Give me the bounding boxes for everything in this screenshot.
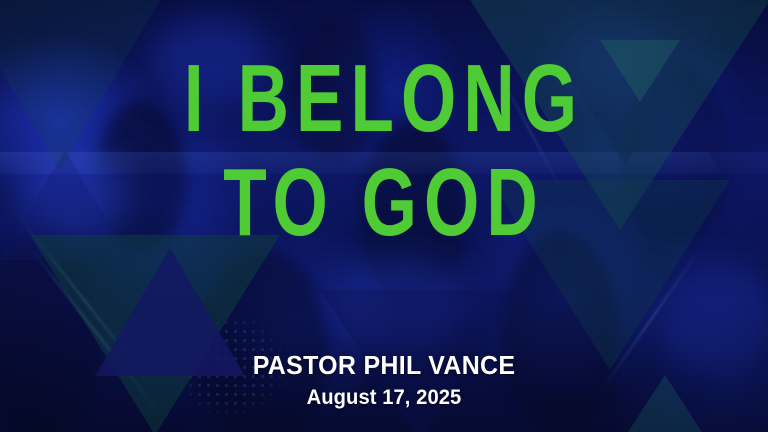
lower-third: PASTOR PHIL VANCE August 17, 2025 [0, 350, 768, 410]
sermon-title-line-1: I BELONG [100, 52, 668, 146]
speaker-name: PASTOR PHIL VANCE [15, 350, 752, 381]
sermon-title: I BELONG TO GOD [0, 52, 768, 250]
sermon-date: August 17, 2025 [15, 386, 752, 410]
sermon-title-slide: I BELONG TO GOD PASTOR PHIL VANCE August… [0, 0, 768, 432]
sermon-title-line-2: TO GOD [100, 156, 668, 250]
slide-content: I BELONG TO GOD PASTOR PHIL VANCE August… [0, 0, 768, 432]
